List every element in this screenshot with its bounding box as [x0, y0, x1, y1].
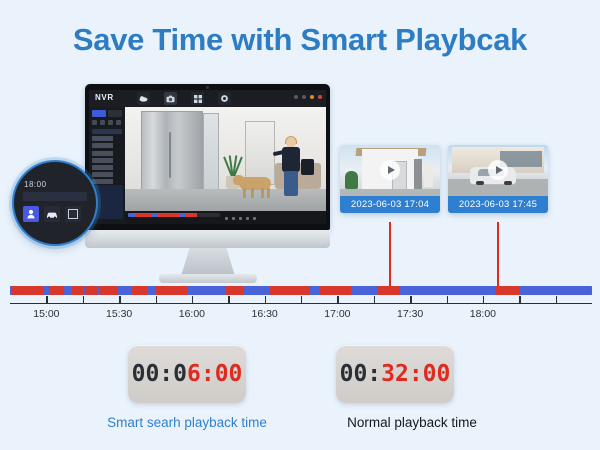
timeline-segment: [520, 286, 592, 295]
maximize-dot[interactable]: [302, 95, 306, 99]
connector-line-2: [497, 222, 499, 291]
calendar-day[interactable]: [101, 197, 104, 200]
timeline-label: 17:00: [324, 308, 350, 320]
play-button[interactable]: [225, 217, 228, 220]
calendar-day[interactable]: [105, 201, 108, 204]
calendar-day[interactable]: [110, 193, 113, 196]
refresh-icon[interactable]: [108, 120, 113, 125]
magnifier-callout: 18:00: [12, 160, 98, 246]
page-root: Save Time with Smart Playbcak NVR: [0, 0, 600, 450]
monitor-base: [159, 274, 257, 283]
calendar-day[interactable]: [118, 201, 121, 204]
timeline-tick: [483, 296, 484, 303]
calendar-day[interactable]: [101, 205, 104, 208]
timeline-segment: [225, 286, 244, 295]
magnifier-time-label: 18:00: [24, 180, 47, 189]
sidebar-tabs[interactable]: [92, 110, 122, 117]
smart-search-clock: 00:06:00: [128, 345, 246, 403]
calendar-day[interactable]: [114, 205, 117, 208]
page-title: Save Time with Smart Playbcak: [0, 22, 600, 58]
timeline-tick: [228, 296, 229, 303]
timeline-tick: [519, 296, 520, 303]
sidebar-tab-record[interactable]: [92, 110, 106, 117]
smart-search-caption: Smart searh playback time: [57, 415, 317, 430]
thumbnail-timestamp: 2023-06-03 17:45: [448, 196, 548, 213]
timeline-label: 15:30: [106, 308, 132, 320]
sidebar-icon-row[interactable]: [92, 120, 121, 125]
calendar-day[interactable]: [110, 205, 113, 208]
timeline-tick: [556, 296, 557, 303]
alert-dot[interactable]: [310, 95, 314, 99]
nvr-toolbar-icons: [137, 92, 231, 105]
timeline-label: 16:00: [179, 308, 205, 320]
timeline-segment: [270, 286, 310, 295]
timeline-label: 17:30: [397, 308, 423, 320]
list-item[interactable]: [92, 158, 122, 163]
nvr-logo: NVR: [95, 93, 114, 102]
list-item[interactable]: [92, 136, 122, 141]
clock-digits: 00:32:00: [340, 361, 451, 387]
play-icon[interactable]: [380, 160, 400, 180]
clock-prefix: 00:: [340, 361, 382, 387]
zoom-button[interactable]: [253, 217, 256, 220]
timeline-segment: [351, 286, 378, 295]
timeline-tick: [156, 296, 157, 303]
square-icon[interactable]: [65, 206, 81, 222]
calendar-day[interactable]: [110, 201, 113, 204]
clock-prefix: 00:0: [132, 361, 187, 387]
expand-icon[interactable]: [116, 120, 121, 125]
calendar-day[interactable]: [118, 205, 121, 208]
calendar-day[interactable]: [105, 205, 108, 208]
timeline-segment: [117, 286, 132, 295]
timeline-segment: [72, 286, 84, 295]
timeline-segment: [320, 286, 351, 295]
event-thumbnail-2[interactable]: 2023-06-03 17:45: [448, 145, 548, 213]
list-item[interactable]: [92, 129, 122, 134]
smart-filter-row[interactable]: [23, 206, 81, 222]
monitor: NVR: [85, 84, 330, 284]
calendar-day[interactable]: [114, 193, 117, 196]
timeline-segment: [310, 286, 320, 295]
timeline-label: 16:30: [251, 308, 277, 320]
filter-icon[interactable]: [100, 120, 105, 125]
calendar-day[interactable]: [114, 201, 117, 204]
scene-bag: [301, 159, 314, 175]
list-item[interactable]: [92, 151, 122, 156]
clock-highlight: 6:00: [187, 361, 242, 387]
normal-playback-caption: Normal playback time: [282, 415, 542, 430]
timeline-label: 18:00: [470, 308, 496, 320]
timeline-tick: [337, 296, 338, 303]
list-item[interactable]: [92, 165, 122, 170]
connector-line-1: [389, 222, 391, 291]
capture-button[interactable]: [246, 217, 249, 220]
player-buttons[interactable]: [225, 217, 256, 220]
monitor-screen: NVR: [85, 84, 330, 230]
monitor-chin: [85, 230, 330, 248]
video-controls[interactable]: [125, 211, 326, 224]
timeline-tick: [374, 296, 375, 303]
calendar-day[interactable]: [101, 193, 104, 196]
pause-button[interactable]: [232, 217, 235, 220]
timeline-bar[interactable]: [10, 286, 592, 295]
timeline-label: 15:00: [33, 308, 59, 320]
video-preview[interactable]: [125, 107, 326, 224]
calendar-day[interactable]: [110, 197, 113, 200]
timeline-segment: [244, 286, 270, 295]
clock-digits: 00:06:00: [132, 361, 243, 387]
minimize-dot[interactable]: [294, 95, 298, 99]
timeline-segment: [64, 286, 72, 295]
timeline-tick: [192, 296, 193, 303]
magnifier-row: [23, 192, 87, 201]
window-controls[interactable]: [294, 95, 322, 99]
normal-playback-clock: 00:32:00: [336, 345, 454, 403]
timeline-tick: [119, 296, 120, 303]
timeline-axis: [10, 303, 592, 304]
calendar-day[interactable]: [114, 197, 117, 200]
gear-icon[interactable]: [218, 92, 231, 105]
mini-timeline[interactable]: [128, 213, 220, 217]
calendar-day[interactable]: [118, 197, 121, 200]
stop-button[interactable]: [239, 217, 242, 220]
person-icon[interactable]: [23, 206, 39, 222]
cloud-icon[interactable]: [137, 92, 150, 105]
thumbnail-timestamp: 2023-06-03 17:04: [340, 196, 440, 213]
timeline-tick: [410, 296, 411, 303]
nvr-app: NVR: [89, 90, 326, 224]
timeline-tick: [265, 296, 266, 303]
timeline-tick: [46, 296, 47, 303]
timeline-segment: [132, 286, 147, 295]
timeline-segment: [378, 286, 400, 295]
timeline-segment: [400, 286, 495, 295]
grid-icon[interactable]: [191, 92, 204, 105]
list-icon[interactable]: [92, 120, 97, 125]
list-item[interactable]: [92, 172, 122, 177]
calendar-day[interactable]: [105, 193, 108, 196]
calendar-day[interactable]: [97, 193, 100, 196]
timeline[interactable]: 15:0015:3016:0016:3017:0017:3018:00: [10, 286, 592, 332]
timeline-segment: [495, 286, 520, 295]
camera-icon[interactable]: [164, 92, 177, 105]
timeline-segment: [156, 286, 188, 295]
calendar-day[interactable]: [118, 193, 121, 196]
event-thumbnail-1[interactable]: 2023-06-03 17:04: [340, 145, 440, 213]
close-dot[interactable]: [318, 95, 322, 99]
monitor-stand: [181, 248, 235, 276]
timeline-segment: [147, 286, 156, 295]
play-icon[interactable]: [488, 160, 508, 180]
sidebar-tab-event[interactable]: [108, 110, 122, 117]
list-item[interactable]: [92, 179, 122, 184]
scene-dog: [233, 173, 277, 199]
timeline-tick: [447, 296, 448, 303]
calendar-day[interactable]: [105, 197, 108, 200]
timeline-segment: [49, 286, 64, 295]
calendar-day[interactable]: [101, 201, 104, 204]
timeline-segment: [188, 286, 225, 295]
list-item[interactable]: [92, 143, 122, 148]
timeline-segment: [11, 286, 44, 295]
nvr-toolbar: NVR: [89, 90, 326, 108]
car-icon[interactable]: [44, 206, 60, 222]
clock-highlight: 32:00: [381, 361, 450, 387]
timeline-segment: [85, 286, 98, 295]
timeline-tick: [301, 296, 302, 303]
timeline-segment: [100, 286, 118, 295]
timeline-tick: [83, 296, 84, 303]
